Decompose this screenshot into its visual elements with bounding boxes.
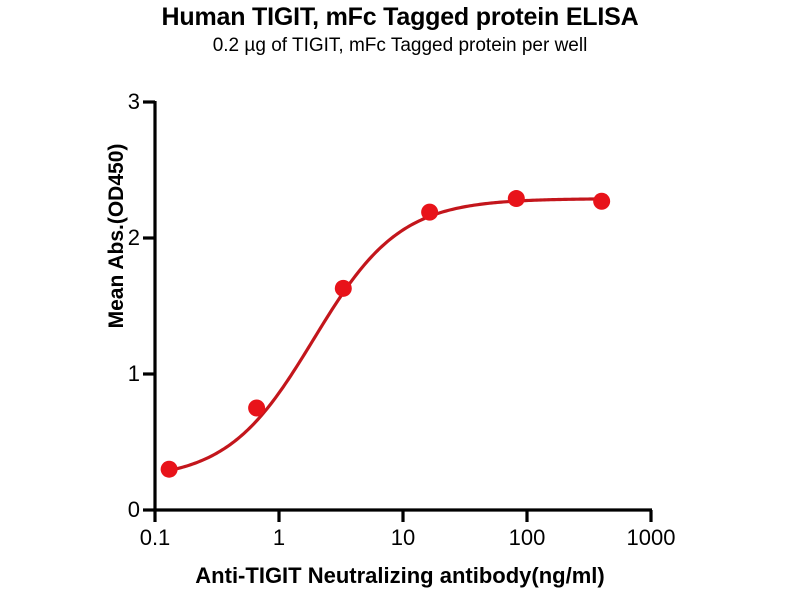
chart-figure: Human TIGIT, mFc Tagged protein ELISA 0.…: [0, 0, 800, 600]
data-point: [335, 280, 352, 297]
data-point: [421, 204, 438, 221]
x-axis-title: Anti-TIGIT Neutralizing antibody(ng/ml): [100, 563, 700, 589]
x-tick-label-1: 1: [273, 525, 285, 551]
series-markers: [161, 190, 611, 478]
data-point: [248, 400, 265, 417]
data-point: [161, 461, 178, 478]
x-tick-label-3: 100: [509, 525, 546, 551]
x-axis-ticks: [155, 510, 651, 522]
data-point: [508, 190, 525, 207]
y-axis-ticks: [143, 102, 155, 510]
x-tick-label-2: 10: [391, 525, 415, 551]
x-tick-label-4: 1000: [627, 525, 676, 551]
data-point: [593, 193, 610, 210]
series-curve: [169, 199, 602, 471]
y-axis-title: Mean Abs.(OD450): [105, 86, 129, 386]
x-tick-label-0: 0.1: [140, 525, 171, 551]
y-tick-label-0: 0: [100, 497, 140, 523]
